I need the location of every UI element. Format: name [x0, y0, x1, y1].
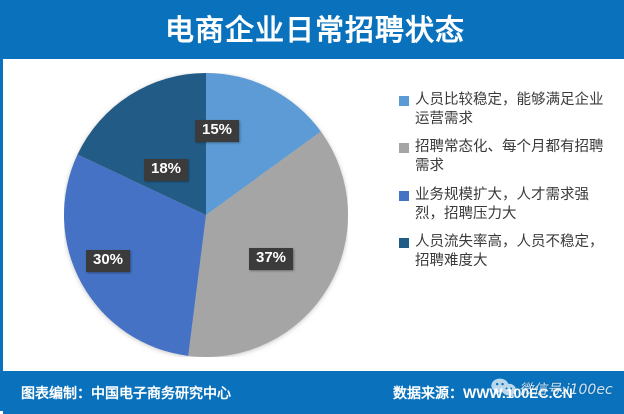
pie-data-label-2: 30% [86, 250, 130, 272]
chart-header: 电商企业日常招聘状态 [3, 3, 624, 59]
legend-item-business-expansion[interactable]: 业务规模扩大，人才需求强烈，招聘压力大 [399, 186, 615, 224]
footer-credit: 图表编制：中国电子商务研究中心 [21, 383, 231, 403]
chart-frame: 电商企业日常招聘状态 [0, 0, 624, 411]
legend-swatch-icon-3 [399, 238, 409, 248]
legend-item-label-1: 招聘常态化、每个月都有招聘需求 [415, 138, 615, 176]
chart-footer: 图表编制：中国电子商务研究中心 数据来源：WWW.100EC.CN [3, 371, 624, 414]
pie-data-label-0: 15% [195, 120, 239, 142]
legend-item-label-2: 业务规模扩大，人才需求强烈，招聘压力大 [415, 186, 615, 224]
chart-legend: 人员比较稳定，能够满足企业运营需求 招聘常态化、每个月都有招聘需求 业务规模扩大… [399, 91, 615, 280]
footer-source: 数据来源：WWW.100EC.CN [393, 383, 573, 403]
legend-item-stable-staffing[interactable]: 人员比较稳定，能够满足企业运营需求 [399, 91, 615, 129]
pie-svg [64, 73, 348, 357]
legend-item-regular-hiring[interactable]: 招聘常态化、每个月都有招聘需求 [399, 138, 615, 176]
pie-chart: 15% 37% 30% 18% [64, 73, 348, 357]
page-title: 电商企业日常招聘状态 [165, 17, 465, 46]
legend-item-label-3: 人员流失率高，人员不稳定，招聘难度大 [415, 233, 615, 271]
pie-data-label-1: 37% [249, 248, 293, 270]
legend-item-label-0: 人员比较稳定，能够满足企业运营需求 [415, 91, 615, 129]
legend-swatch-icon-1 [399, 143, 409, 153]
chart-body: 15% 37% 30% 18% 人员比较稳定，能够满足企业运营需求 招聘常态化、… [3, 59, 624, 371]
legend-swatch-icon-2 [399, 191, 409, 201]
legend-item-high-turnover[interactable]: 人员流失率高，人员不稳定，招聘难度大 [399, 233, 615, 271]
legend-swatch-icon-0 [399, 96, 409, 106]
pie-data-label-3: 18% [144, 159, 188, 181]
